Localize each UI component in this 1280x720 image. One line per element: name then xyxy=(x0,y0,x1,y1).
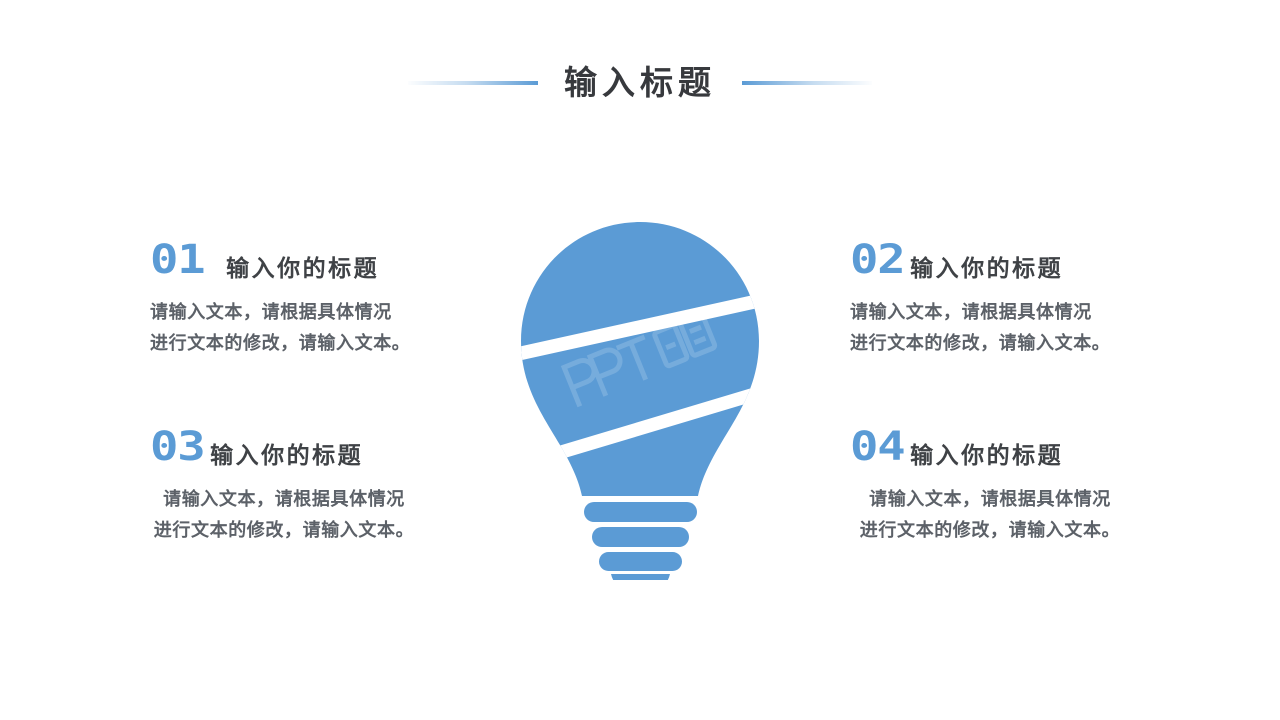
page-title: 输入标题 xyxy=(564,66,716,101)
item-body-01: 请输入文本，请根据具体情况 进行文本的修改，请输入文本。 xyxy=(150,297,480,359)
bulb-base-bar-2 xyxy=(592,527,689,547)
content-item-03-head: 03 输入你的标题 xyxy=(150,423,480,467)
item-body-02-line1: 请输入文本，请根据具体情况 xyxy=(850,297,1180,328)
item-body-04-line2: 进行文本的修改，请输入文本。 xyxy=(850,515,1130,546)
item-body-01-line2: 进行文本的修改，请输入文本。 xyxy=(150,328,480,359)
content-item-02[interactable]: 02 输入你的标题 请输入文本，请根据具体情况 进行文本的修改，请输入文本。 xyxy=(850,236,1180,359)
item-body-04-line1: 请输入文本，请根据具体情况 xyxy=(850,484,1130,515)
item-body-03-line1: 请输入文本，请根据具体情况 xyxy=(150,484,418,515)
content-item-01[interactable]: 01 输入你的标题 请输入文本，请根据具体情况 进行文本的修改，请输入文本。 xyxy=(150,236,480,359)
item-number-03: 03 xyxy=(150,427,204,467)
content-item-04[interactable]: 04 输入你的标题 请输入文本，请根据具体情况 进行文本的修改，请输入文本。 xyxy=(850,423,1180,546)
content-item-03[interactable]: 03 输入你的标题 请输入文本，请根据具体情况 进行文本的修改，请输入文本。 xyxy=(150,423,480,546)
bulb-base-bar-1 xyxy=(584,502,697,522)
content-item-01-head: 01 输入你的标题 xyxy=(150,236,480,280)
item-body-04: 请输入文本，请根据具体情况 进行文本的修改，请输入文本。 xyxy=(850,484,1130,546)
bulb-base-tip xyxy=(611,574,670,580)
content-item-04-head: 04 输入你的标题 xyxy=(850,423,1180,467)
item-body-02: 请输入文本，请根据具体情况 进行文本的修改，请输入文本。 xyxy=(850,297,1180,359)
lightbulb-icon xyxy=(505,210,775,580)
item-number-01: 01 xyxy=(150,240,204,280)
item-body-02-line2: 进行文本的修改，请输入文本。 xyxy=(850,328,1180,359)
item-body-03-line2: 进行文本的修改，请输入文本。 xyxy=(150,515,418,546)
item-title-04: 输入你的标题 xyxy=(910,444,1063,467)
item-number-04: 04 xyxy=(850,427,904,467)
slide-header: 输入标题 xyxy=(0,55,1280,111)
item-body-01-line1: 请输入文本，请根据具体情况 xyxy=(150,297,480,328)
item-title-02: 输入你的标题 xyxy=(910,257,1063,280)
gradient-rule-left-icon xyxy=(408,81,538,85)
gradient-rule-right-icon xyxy=(742,81,872,85)
slide-canvas: 输入标题 01 输入你的标题 请输入文本，请根据具体情况 进行文本的修改，请输入… xyxy=(0,0,1280,720)
item-number-02: 02 xyxy=(850,240,904,280)
item-title-03: 输入你的标题 xyxy=(210,444,363,467)
bulb-base-bar-3 xyxy=(599,552,682,571)
content-item-02-head: 02 输入你的标题 xyxy=(850,236,1180,280)
item-body-03: 请输入文本，请根据具体情况 进行文本的修改，请输入文本。 xyxy=(150,484,418,546)
item-title-01: 输入你的标题 xyxy=(226,257,379,280)
